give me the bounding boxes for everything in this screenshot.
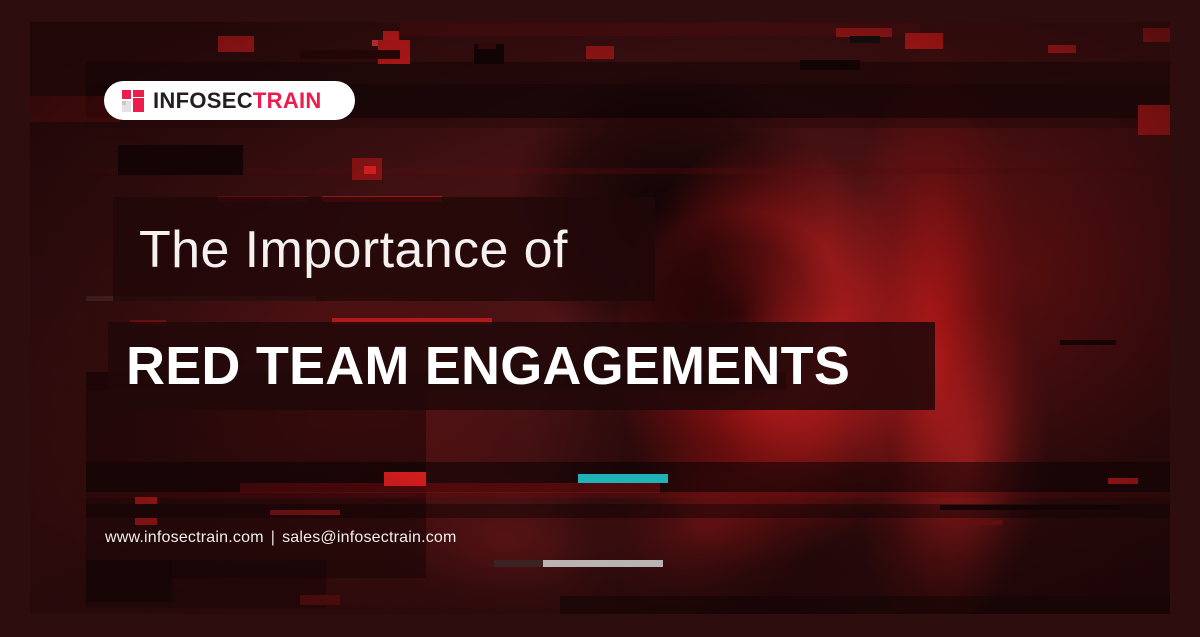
logo-word-infosec: INFOSEC [153,88,253,113]
infosectrain-logo[interactable]: INFOSECTRAIN [104,81,355,120]
footer-email[interactable]: sales@infosectrain.com [282,529,457,546]
dark-glitch-bar [494,560,546,567]
cyan-glitch-bar [578,474,668,483]
logo-wordmark: INFOSECTRAIN [153,90,322,112]
footer-contact-line: www.infosectrain.com|sales@infosectrain.… [105,529,457,547]
footer-separator: | [264,529,282,546]
red-team-engagements-banner: INFOSECTRAIN The Importance of RED TEAM … [0,0,1200,637]
infosectrain-squares-mark [122,90,144,112]
footer-website[interactable]: www.infosectrain.com [105,529,264,546]
light-glitch-bar [543,560,663,567]
subtitle-text: The Importance of [139,205,568,295]
headline-text: RED TEAM ENGAGEMENTS [126,329,850,403]
logo-word-train: TRAIN [253,88,322,113]
